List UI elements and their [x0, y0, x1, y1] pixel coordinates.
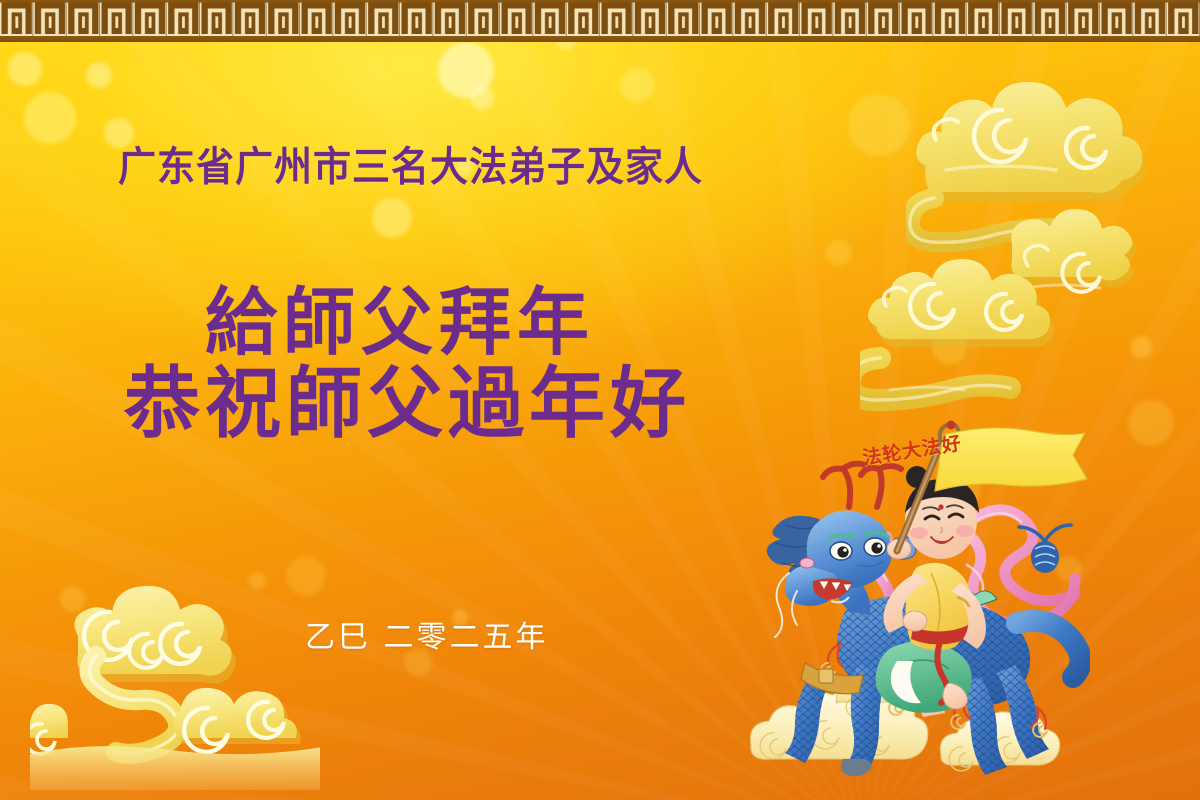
bokeh-light [8, 52, 42, 86]
bokeh-light [248, 572, 266, 590]
ribbon-tassel-ornament [1019, 525, 1071, 573]
bokeh-light [372, 198, 412, 238]
child-riding-dragon-with-banner-illustration [745, 415, 1090, 790]
sender-line: 广东省广州市三名大法弟子及家人 [118, 134, 703, 192]
dragon-body [785, 525, 1081, 776]
auspicious-cloud-motif [30, 560, 320, 790]
bokeh-light [86, 62, 112, 88]
date-line: 乙巳 二零二五年 [305, 612, 549, 656]
greek-key-meander-border [0, 0, 1200, 42]
bokeh-light [1128, 400, 1174, 446]
banner-pole [897, 421, 959, 552]
bokeh-light [932, 330, 966, 364]
auspicious-cloud-motif [906, 48, 1200, 348]
bokeh-light [848, 94, 910, 156]
bokeh-light [24, 92, 76, 144]
banner-text: 法轮大法好 [851, 427, 974, 472]
auspicious-cloud-motif [860, 240, 1080, 430]
dragon-head [767, 464, 916, 637]
bokeh-light [1130, 336, 1152, 358]
leg-spiral-ornaments [821, 663, 1047, 737]
bokeh-light [940, 470, 980, 510]
banner-flag [935, 428, 1087, 491]
bokeh-light [438, 42, 494, 98]
new-year-greeting-card: 法轮大法好 广东省广州市三名大法弟子及家人 給師父拜年 恭祝師父過年好 乙巳 二… [0, 0, 1200, 800]
bokeh-light [286, 556, 326, 596]
child-figure [876, 464, 987, 717]
bokeh-light [60, 586, 86, 612]
dragon-horns [823, 464, 901, 507]
dragon-mane [767, 516, 858, 588]
bokeh-light [470, 86, 494, 110]
bokeh-light [1056, 556, 1082, 582]
pink-ribbon-streamers [877, 510, 1075, 653]
greeting-line-2: 恭祝師父過年好 [124, 340, 691, 452]
border-baseline [0, 36, 1200, 42]
leg-flame-tufts [828, 643, 1046, 729]
meander-pattern [0, 0, 1200, 36]
bokeh-light [826, 240, 852, 266]
painted-clouds-bottom [750, 670, 1059, 770]
bokeh-light [620, 68, 654, 102]
